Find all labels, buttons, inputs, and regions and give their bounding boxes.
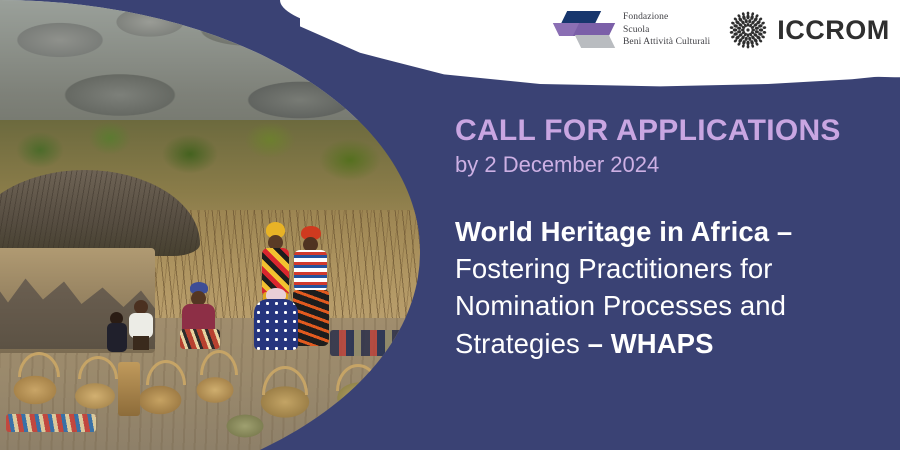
fondazione-scuola-logo-mark-icon <box>556 9 614 51</box>
photo-woven-baskets <box>0 330 470 450</box>
fondazione-line-1: Fondazione <box>623 11 710 24</box>
fondazione-scuola-logo: Fondazione Scuola Beni Attività Cultural… <box>556 9 710 51</box>
title-line-1: World Heritage in Africa – <box>455 216 792 247</box>
photo-face <box>134 300 148 314</box>
fondazione-line-2: Scuola <box>623 24 710 37</box>
photo-striped-top <box>294 250 327 292</box>
title-line-3: Nomination Processes and <box>455 290 786 321</box>
programme-title: World Heritage in Africa – Fostering Pra… <box>455 213 885 363</box>
copy-block: CALL FOR APPLICATIONS by 2 December 2024… <box>455 0 885 450</box>
iccrom-logo: ICCROM <box>728 10 890 50</box>
hero-photo-clip <box>0 0 470 450</box>
call-for-applications-banner: Fondazione Scuola Beni Attività Cultural… <box>0 0 900 450</box>
title-line-2: Fostering Practitioners for <box>455 253 773 284</box>
photo-ground-textiles <box>6 414 96 432</box>
fondazione-line-3: Beni Attività Culturali <box>623 36 710 49</box>
logo-bar: Fondazione Scuola Beni Attività Cultural… <box>556 6 890 54</box>
kicker-call-for-applications: CALL FOR APPLICATIONS <box>455 114 885 148</box>
photo-maroon-top <box>182 304 215 332</box>
photo-basket-handle <box>400 370 442 395</box>
title-line-4: Strategies <box>455 328 588 359</box>
iccrom-wordmark: ICCROM <box>777 15 890 46</box>
photo-carved-wooden-item <box>118 362 140 416</box>
logo-band-grey <box>575 35 615 48</box>
hero-photo <box>0 0 470 450</box>
title-acronym: – WHAPS <box>588 328 714 359</box>
iccrom-starburst-icon <box>728 10 768 50</box>
deadline-text: by 2 December 2024 <box>455 152 885 178</box>
fondazione-scuola-wordmark: Fondazione Scuola Beni Attività Cultural… <box>623 11 710 49</box>
